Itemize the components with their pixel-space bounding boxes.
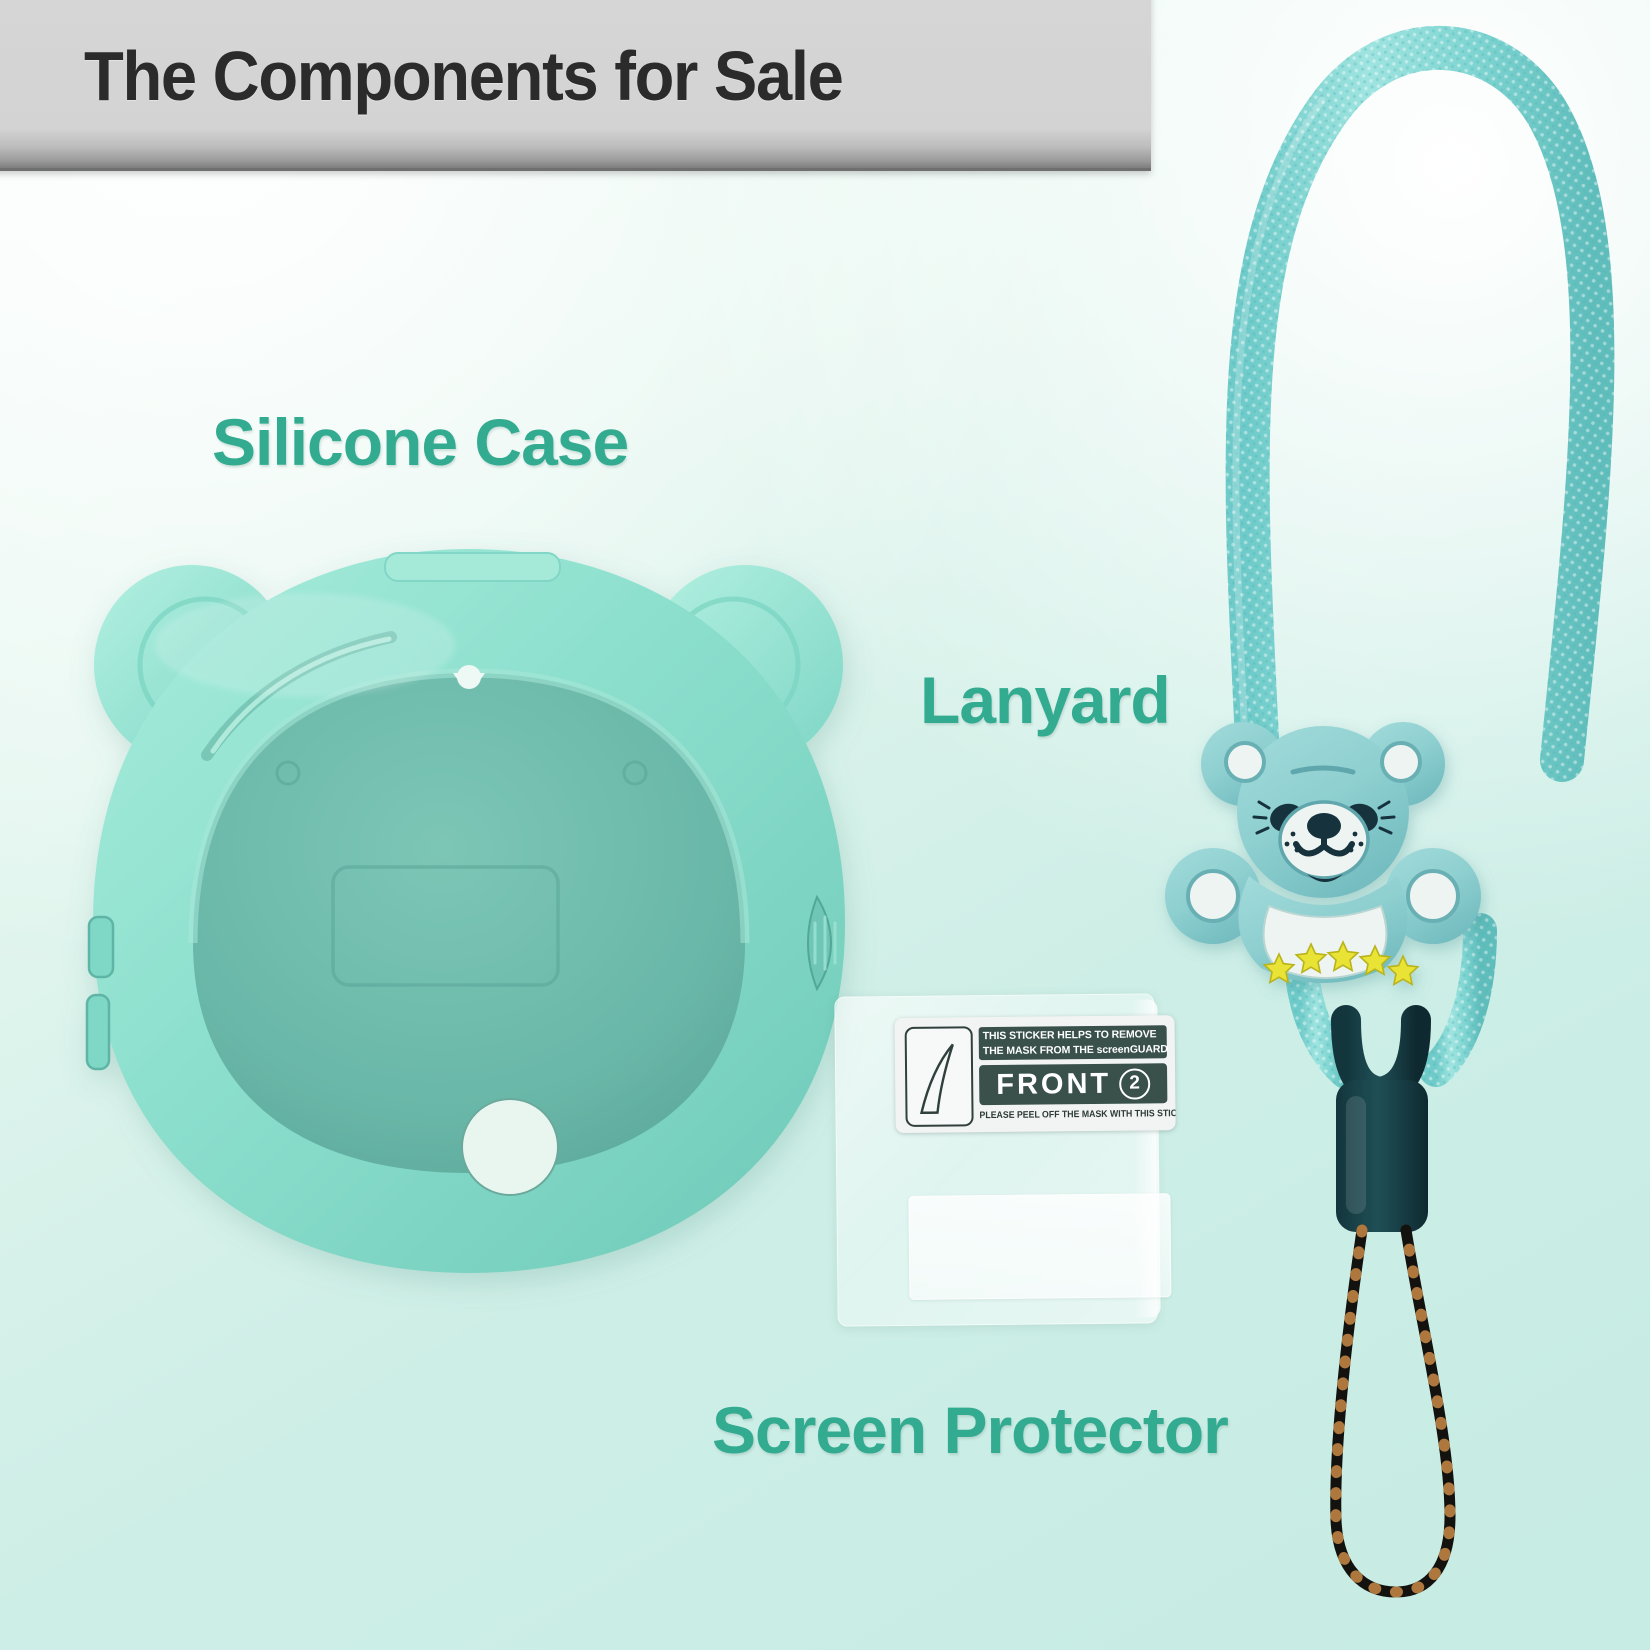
sticker-bottom-line: PLEASE PEEL OFF THE MASK WITH THIS STICK… (979, 1108, 1156, 1121)
connector-highlight (1346, 1096, 1366, 1214)
case-body-group (87, 549, 845, 1273)
page-title: The Components for Sale (84, 36, 843, 116)
sticker-front-label: FRONT (996, 1067, 1111, 1101)
case-button-left-upper (89, 917, 113, 977)
charm-inner-ear-left (1226, 743, 1264, 781)
bear-charm (1165, 700, 1485, 1020)
protector-pull-tab (908, 1193, 1171, 1300)
case-bottom-button (462, 1099, 558, 1195)
case-button-left-lower (87, 995, 109, 1069)
lanyard-connector (1336, 1020, 1428, 1232)
sticker-front-number: 2 (1119, 1068, 1150, 1099)
charm-silhouette (1165, 722, 1481, 984)
infographic-canvas: The Components for Sale Silicone Case La… (0, 0, 1650, 1650)
lanyard-cord-loop (1236, 48, 1592, 760)
screen-protector-product-image: THIS STICKER HELPS TO REMOVE THE MASK FR… (834, 993, 1157, 1326)
label-lanyard: Lanyard (920, 662, 1170, 738)
case-inner-cavity (193, 673, 745, 1173)
charm-inner-ear-right (1382, 743, 1420, 781)
peel-diagram-icon (905, 1026, 974, 1127)
charm-paw-left (1188, 871, 1238, 921)
case-cavity-tab-dot (457, 665, 481, 689)
charm-paw-right (1408, 871, 1458, 921)
charm-star (1388, 956, 1418, 984)
sticker-line-2: THE MASK FROM THE screenGUARD (983, 1042, 1163, 1059)
sticker-top-banner: THIS STICKER HELPS TO REMOVE THE MASK FR… (979, 1025, 1167, 1060)
case-top-notch (385, 553, 560, 581)
protector-instruction-sticker: THIS STICKER HELPS TO REMOVE THE MASK FR… (895, 1015, 1176, 1133)
sticker-front-banner: FRONT 2 (979, 1063, 1167, 1105)
lanyard-thin-loop (1336, 1230, 1450, 1592)
case-highlight (155, 593, 455, 697)
title-banner: The Components for Sale (0, 0, 1151, 171)
silicone-case-product-image (55, 525, 885, 1295)
label-silicone-case: Silicone Case (212, 404, 628, 480)
